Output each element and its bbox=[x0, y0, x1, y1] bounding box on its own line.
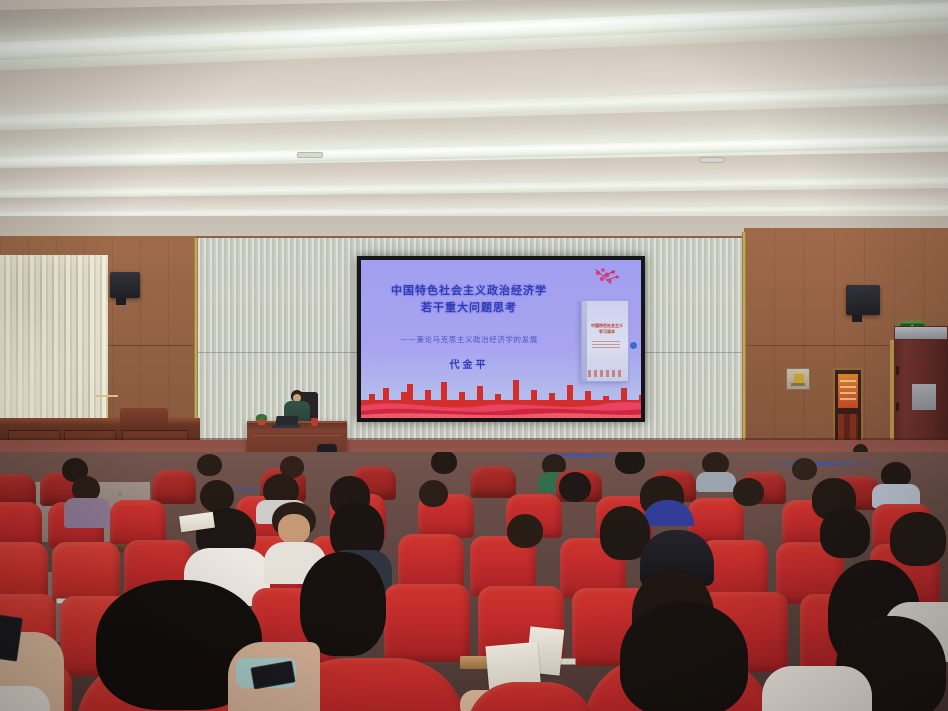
door-transom-window bbox=[894, 326, 948, 340]
attendee-hair bbox=[615, 452, 645, 474]
slide-author: 代金平 bbox=[361, 356, 577, 371]
skyline-graphic bbox=[361, 370, 641, 418]
potted-plant bbox=[256, 413, 267, 425]
slide-title-line2: 若干重大问题思考 bbox=[361, 299, 577, 316]
attendee bbox=[195, 454, 225, 478]
slide-title-line1: 中国特色社会主义政治经济学 bbox=[361, 282, 577, 299]
attendee bbox=[268, 502, 320, 554]
desk-top-edge bbox=[0, 418, 200, 424]
attendee-hair bbox=[300, 552, 386, 656]
book-cover-lines bbox=[592, 341, 620, 350]
book-title-line2: 学习读本 bbox=[590, 329, 624, 335]
attendee bbox=[68, 476, 104, 510]
attendee-shirt bbox=[762, 666, 872, 711]
ceiling bbox=[0, 0, 948, 248]
attendee bbox=[504, 514, 548, 558]
attendee-hair bbox=[431, 452, 457, 474]
plaque-emblem-icon bbox=[794, 374, 804, 383]
attendee-torso bbox=[64, 498, 110, 528]
plant-pot bbox=[258, 420, 265, 425]
attendee-hair bbox=[419, 480, 448, 507]
cabinet-poster bbox=[838, 374, 858, 408]
slide-surface: 中国特色社会主义政治经济学 若干重大问题思考 ——兼论马克思主义政治经济学的发展… bbox=[361, 260, 641, 418]
side-lectern bbox=[120, 408, 168, 432]
seat[interactable] bbox=[384, 584, 470, 662]
attendee bbox=[878, 462, 914, 490]
attendee-hair bbox=[890, 512, 946, 566]
ambient-blue-light-2 bbox=[760, 462, 880, 465]
attendee-hair bbox=[820, 508, 870, 558]
door-vision-panel bbox=[912, 384, 936, 410]
plaque-text-line bbox=[791, 383, 805, 386]
wall-speaker-left bbox=[110, 272, 140, 298]
wall-plaque bbox=[786, 368, 810, 390]
smoke-detector-icon-2 bbox=[700, 157, 724, 163]
book-spine bbox=[582, 301, 587, 381]
slide-title: 中国特色社会主义政治经济学 若干重大问题思考 bbox=[361, 282, 577, 316]
attendee bbox=[428, 452, 460, 476]
attendee bbox=[416, 480, 452, 514]
plum-blossom-icon bbox=[589, 266, 625, 292]
seat-number-plate bbox=[560, 658, 576, 665]
attendee-hair bbox=[197, 454, 222, 476]
attendee bbox=[820, 508, 872, 564]
attendee-hair bbox=[733, 478, 764, 506]
book-cover-title: 中国特色社会主义 学习读本 bbox=[590, 323, 624, 335]
attendee-foreground-right bbox=[620, 602, 750, 711]
attendee bbox=[612, 452, 648, 478]
seat[interactable] bbox=[152, 470, 196, 504]
laptop bbox=[275, 416, 298, 426]
wall-speaker-right bbox=[846, 285, 880, 315]
attendee-hair bbox=[792, 458, 817, 480]
attendee bbox=[700, 452, 732, 478]
slide-subtitle: ——兼论马克思主义政治经济学的发展 bbox=[361, 334, 577, 345]
attendee bbox=[556, 472, 596, 512]
attendee-face bbox=[278, 514, 310, 544]
seat[interactable] bbox=[470, 466, 516, 498]
attendee bbox=[730, 478, 768, 514]
red-cup bbox=[311, 418, 318, 426]
attendee-hair bbox=[507, 514, 543, 548]
door-hinge-mid bbox=[896, 402, 899, 411]
audience-area bbox=[0, 452, 948, 711]
smoke-detector-icon bbox=[297, 152, 323, 158]
attendee-hair bbox=[559, 472, 591, 502]
door-hinge-top bbox=[896, 366, 899, 375]
attendee-hair bbox=[620, 602, 748, 711]
slide-page-badge bbox=[630, 342, 637, 349]
auditorium-photo: 中国特色社会主义政治经济学 若干重大问题思考 ——兼论马克思主义政治经济学的发展… bbox=[0, 0, 948, 711]
projection-screen: 中国特色社会主义政治经济学 若干重大问题思考 ——兼论马克思主义政治经济学的发展… bbox=[357, 256, 645, 422]
